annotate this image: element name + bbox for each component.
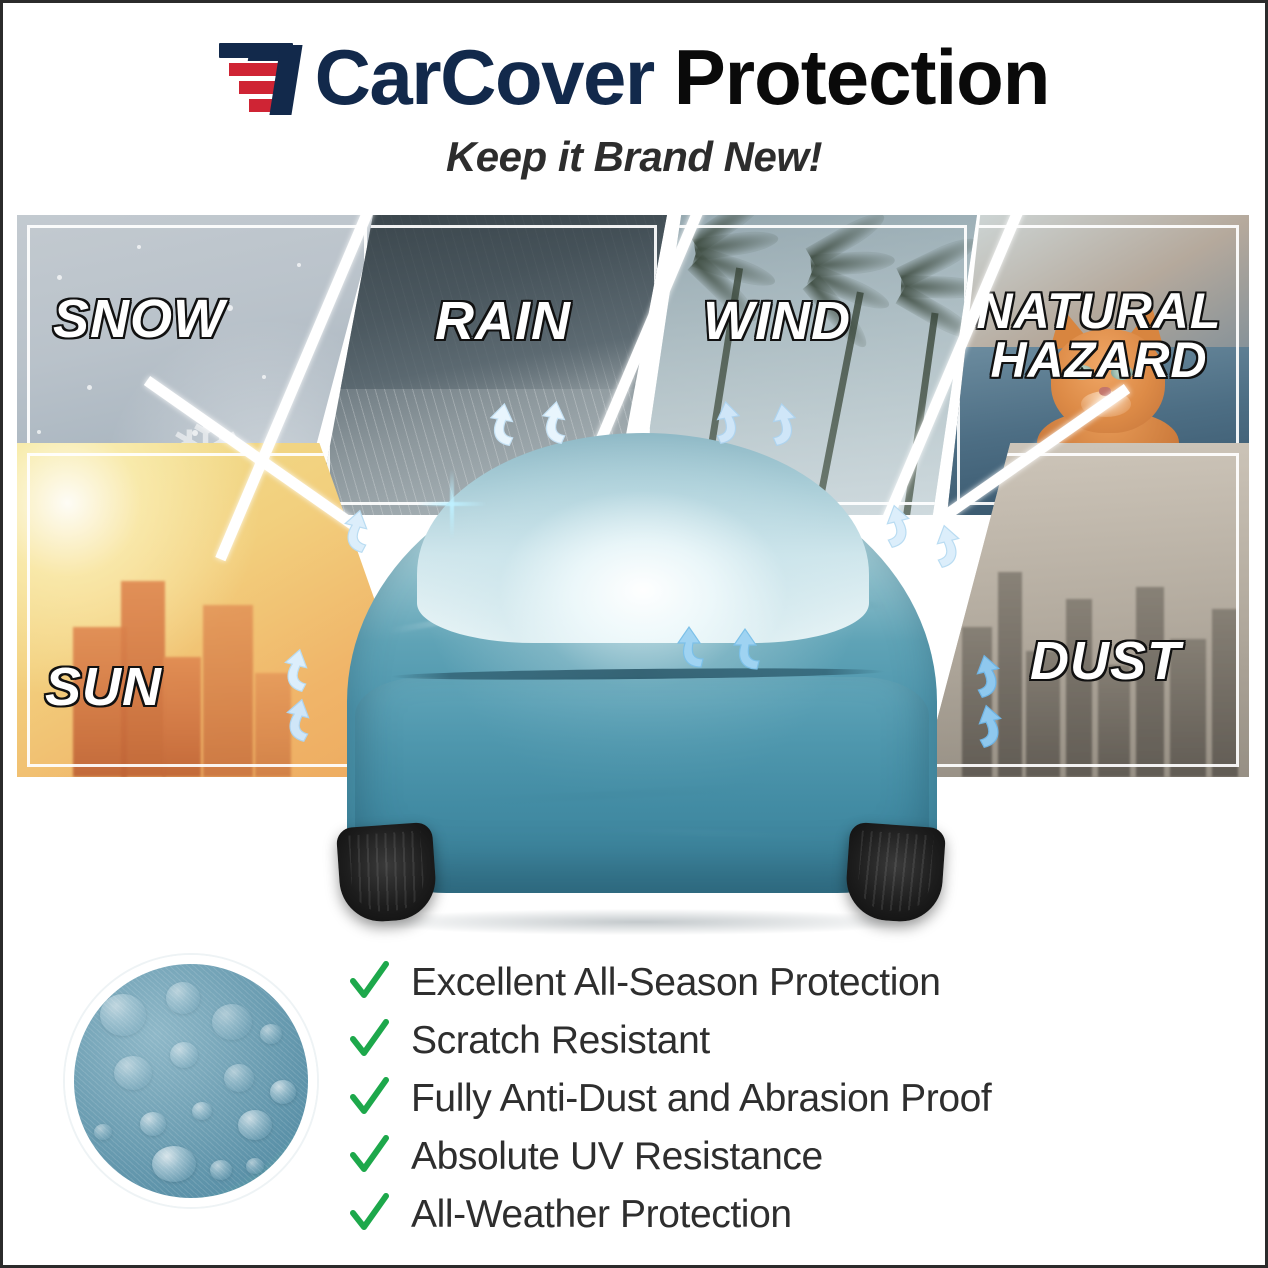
header: CarCover Protection Keep it Brand New! — [3, 29, 1265, 181]
deflection-arrow-icon — [675, 623, 719, 669]
deflection-arrow-icon — [959, 653, 1003, 699]
check-icon — [349, 1135, 389, 1179]
check-icon — [349, 1019, 389, 1063]
panel-label-natural-hazard: NATURAL HAZARD — [961, 287, 1237, 385]
deflection-arrow-icon — [539, 399, 583, 445]
water-beading-fabric-swatch — [65, 955, 317, 1207]
feature-item: Scratch Resistant — [349, 1013, 1149, 1069]
panel-label-dust: DUST — [1030, 635, 1181, 688]
covered-car-image — [321, 433, 961, 943]
deflection-arrow-icon — [869, 503, 913, 549]
panel-label-snow: SNOW — [53, 293, 225, 346]
deflection-arrow-icon — [961, 703, 1005, 749]
panel-label-wind: WIND — [703, 295, 851, 348]
car-ground-shadow — [361, 909, 921, 935]
tagline: Keep it Brand New! — [3, 133, 1265, 181]
deflection-arrow-icon — [755, 401, 799, 447]
feature-label: Absolute UV Resistance — [411, 1135, 823, 1179]
deflection-arrow-icon — [281, 647, 325, 693]
product-infographic: CarCover Protection Keep it Brand New! ❄ — [0, 0, 1268, 1268]
feature-label: Excellent All-Season Protection — [411, 961, 941, 1005]
feature-label: Fully Anti-Dust and Abrasion Proof — [411, 1077, 991, 1121]
feature-item: Excellent All-Season Protection — [349, 955, 1149, 1011]
deflection-arrow-icon — [341, 508, 385, 554]
shine-sparkle-icon — [417, 469, 487, 539]
feature-item: All-Weather Protection — [349, 1187, 1149, 1243]
check-icon — [349, 961, 389, 1005]
deflection-arrow-icon — [699, 399, 743, 445]
car-cover-lower — [355, 677, 929, 893]
brand-name: CarCover — [315, 38, 654, 116]
deflection-arrow-icon — [919, 523, 963, 569]
feature-item: Absolute UV Resistance — [349, 1129, 1149, 1185]
feature-label: Scratch Resistant — [411, 1019, 710, 1063]
brand-suffix: Protection — [674, 38, 1050, 116]
feature-label: All-Weather Protection — [411, 1193, 792, 1237]
panel-label-rain: RAIN — [435, 295, 571, 348]
panel-label-sun: SUN — [45, 661, 162, 714]
check-icon — [349, 1077, 389, 1121]
icarcover-flag-logo-icon — [219, 37, 311, 117]
deflection-arrow-icon — [487, 401, 531, 447]
feature-list: Excellent All-Season Protection Scratch … — [349, 955, 1149, 1245]
brand-lockup: CarCover Protection — [3, 29, 1265, 125]
feature-item: Fully Anti-Dust and Abrasion Proof — [349, 1071, 1149, 1127]
wheel-right — [844, 822, 946, 924]
deflection-arrow-icon — [283, 697, 327, 743]
check-icon — [349, 1193, 389, 1237]
deflection-arrow-icon — [731, 625, 775, 671]
